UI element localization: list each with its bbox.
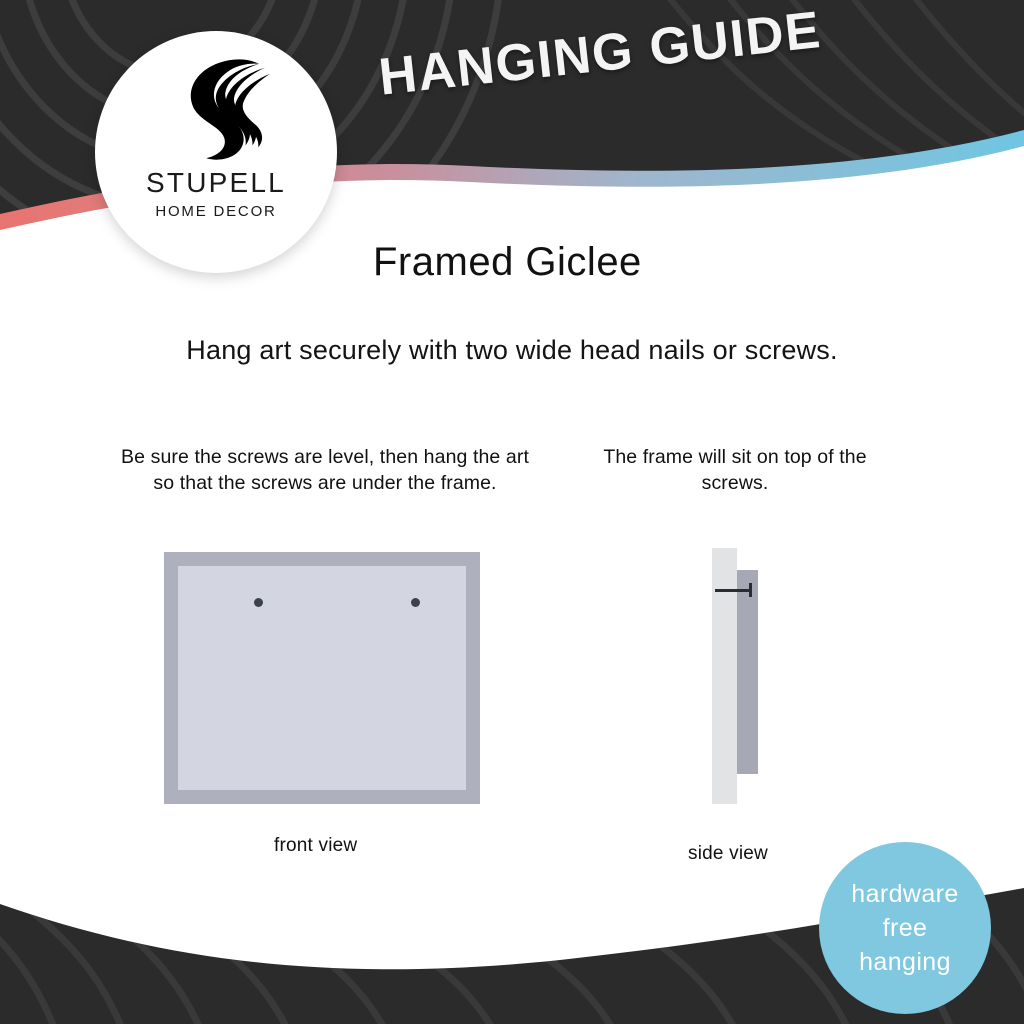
stupell-swoosh-icon (156, 57, 276, 165)
hanging-guide-page: STUPELL HOME DECOR HANGING GUIDE Framed … (0, 0, 1024, 1024)
front-view-frame-illustration (164, 552, 480, 804)
brand-name: STUPELL (146, 169, 286, 197)
hardware-free-hanging-badge: hardware free hanging (819, 842, 991, 1014)
side-view-instruction: The frame will sit on top of the screws. (575, 444, 895, 496)
screw-dot-right (411, 598, 420, 607)
side-view-frame (737, 570, 758, 774)
nail-shaft-icon (715, 589, 751, 592)
nail-head-icon (749, 583, 752, 597)
side-view-wall (712, 548, 737, 804)
brand-logo-badge: STUPELL HOME DECOR (95, 31, 337, 273)
badge-line-3: hanging (859, 945, 951, 979)
screw-dot-left (254, 598, 263, 607)
badge-line-2: free (883, 911, 928, 945)
side-view-section: The frame will sit on top of the screws. (575, 444, 895, 496)
product-name: Framed Giclee (373, 240, 642, 285)
front-view-mat (178, 566, 466, 790)
page-title: HANGING GUIDE (376, 0, 824, 108)
side-view-label: side view (688, 843, 768, 865)
brand-tagline: HOME DECOR (155, 204, 276, 219)
badge-line-1: hardware (851, 877, 958, 911)
front-view-section: Be sure the screws are level, then hang … (120, 444, 530, 496)
lead-instruction: Hang art securely with two wide head nai… (0, 335, 1024, 366)
front-view-instruction: Be sure the screws are level, then hang … (120, 444, 530, 496)
front-view-label: front view (274, 835, 357, 857)
